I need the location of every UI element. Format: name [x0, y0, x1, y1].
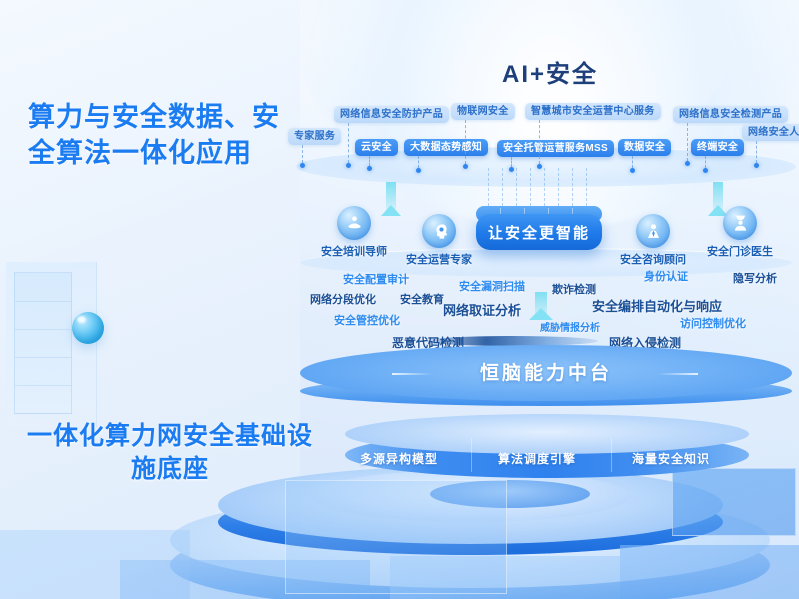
decorative-grid-panel: [14, 272, 72, 414]
capability-tag[interactable]: 安全编排自动化与响应: [592, 296, 722, 315]
foundation-item[interactable]: 算法调度引擎: [498, 450, 576, 467]
product-chip-stem: [418, 156, 419, 168]
capability-tag[interactable]: 安全管控优化: [334, 312, 400, 328]
product-chip-stem: [756, 141, 757, 163]
persona-item[interactable]: 安全咨询顾问: [605, 214, 701, 267]
product-chip-stem: [687, 123, 688, 161]
capability-tag[interactable]: 安全漏洞扫描: [459, 278, 525, 294]
product-chip-dot: [367, 166, 372, 171]
persona-label: 安全运营专家: [391, 251, 487, 267]
capability-tag[interactable]: 访问控制优化: [680, 315, 746, 331]
product-chip-stem: [369, 156, 370, 166]
brain-head-icon: [422, 214, 456, 248]
infographic-canvas: 算力与安全数据、安全算法一体化应用 一体化算力网安全基础设施底座 AI+安全 专…: [0, 0, 799, 599]
persona-item[interactable]: 安全运营专家: [391, 214, 487, 267]
product-chip-dot: [703, 168, 708, 173]
product-chip-dot: [463, 164, 468, 169]
foundation-cylinder-top: [345, 414, 749, 454]
decorative-glass-panel: [285, 480, 507, 594]
product-chip[interactable]: 终端安全: [691, 139, 744, 156]
product-chip[interactable]: 云安全: [355, 139, 398, 156]
capability-tag[interactable]: 网络分段优化: [310, 291, 376, 307]
persona-label: 安全咨询顾问: [605, 251, 701, 267]
product-chip[interactable]: 网络信息安全检测产品: [673, 106, 788, 123]
capability-tag[interactable]: 欺诈检测: [552, 281, 596, 297]
core-module-smart-security[interactable]: 让安全更智能: [476, 214, 602, 250]
product-chip-stem: [348, 123, 349, 163]
product-chip[interactable]: 专家服务: [288, 128, 341, 145]
capability-tag[interactable]: 安全教育: [400, 291, 444, 307]
decorative-sphere: [72, 312, 104, 344]
product-chip-dot: [630, 168, 635, 173]
product-chip-stem: [632, 156, 633, 168]
product-chip-dot: [754, 163, 759, 168]
capability-tag[interactable]: 威胁情报分析: [540, 319, 600, 334]
section-title-ai-security: AI+安全: [430, 54, 670, 89]
capability-tag[interactable]: 身份认证: [644, 268, 688, 284]
platform-band-label: 恒脑能力中台: [300, 358, 792, 385]
product-chip-dot: [300, 163, 305, 168]
product-chip[interactable]: 数据安全: [618, 139, 671, 156]
product-chip-stem: [465, 120, 466, 164]
foundation-item[interactable]: 多源异构模型: [360, 450, 438, 467]
capability-tag[interactable]: 安全配置审计: [343, 271, 409, 287]
product-chip-dot: [346, 163, 351, 168]
persona-label: 安全培训导师: [306, 243, 402, 259]
product-chip-stem: [511, 157, 512, 167]
capability-tag[interactable]: 网络取证分析: [443, 300, 521, 319]
core-module-label: 让安全更智能: [488, 222, 590, 243]
capability-tag[interactable]: 隐写分析: [733, 270, 777, 286]
page-title-application: 算力与安全数据、安全算法一体化应用: [28, 100, 298, 171]
decorative-glass-block: [672, 468, 796, 536]
decorative-slab-right: [620, 545, 799, 599]
trainer-icon: [337, 206, 371, 240]
product-chip-dot: [416, 168, 421, 173]
foundation-item[interactable]: 海量安全知识: [632, 450, 710, 467]
product-chip-stem: [705, 156, 706, 168]
product-chip[interactable]: 网络信息安全防护产品: [334, 106, 449, 123]
product-chip[interactable]: 安全托管运营服务MSS: [497, 140, 614, 157]
persona-label: 安全门诊医生: [692, 243, 788, 259]
persona-item[interactable]: 安全培训导师: [306, 206, 402, 259]
core-data-lines: [484, 168, 596, 210]
product-chip-stem: [302, 145, 303, 163]
product-chip-dot: [685, 161, 690, 166]
page-title-foundation: 一体化算力网安全基础设施底座: [20, 420, 320, 486]
product-chip[interactable]: 大数据态势感知: [404, 139, 488, 156]
product-chip[interactable]: 网络安全人才培: [742, 124, 799, 141]
product-chip[interactable]: 智慧城市安全运营中心服务: [525, 103, 661, 120]
consultant-icon: [636, 214, 670, 248]
persona-item[interactable]: 安全门诊医生: [692, 206, 788, 259]
product-chip-stem: [539, 120, 540, 164]
product-chip[interactable]: 物联网安全: [451, 103, 515, 120]
doctor-icon: [723, 206, 757, 240]
